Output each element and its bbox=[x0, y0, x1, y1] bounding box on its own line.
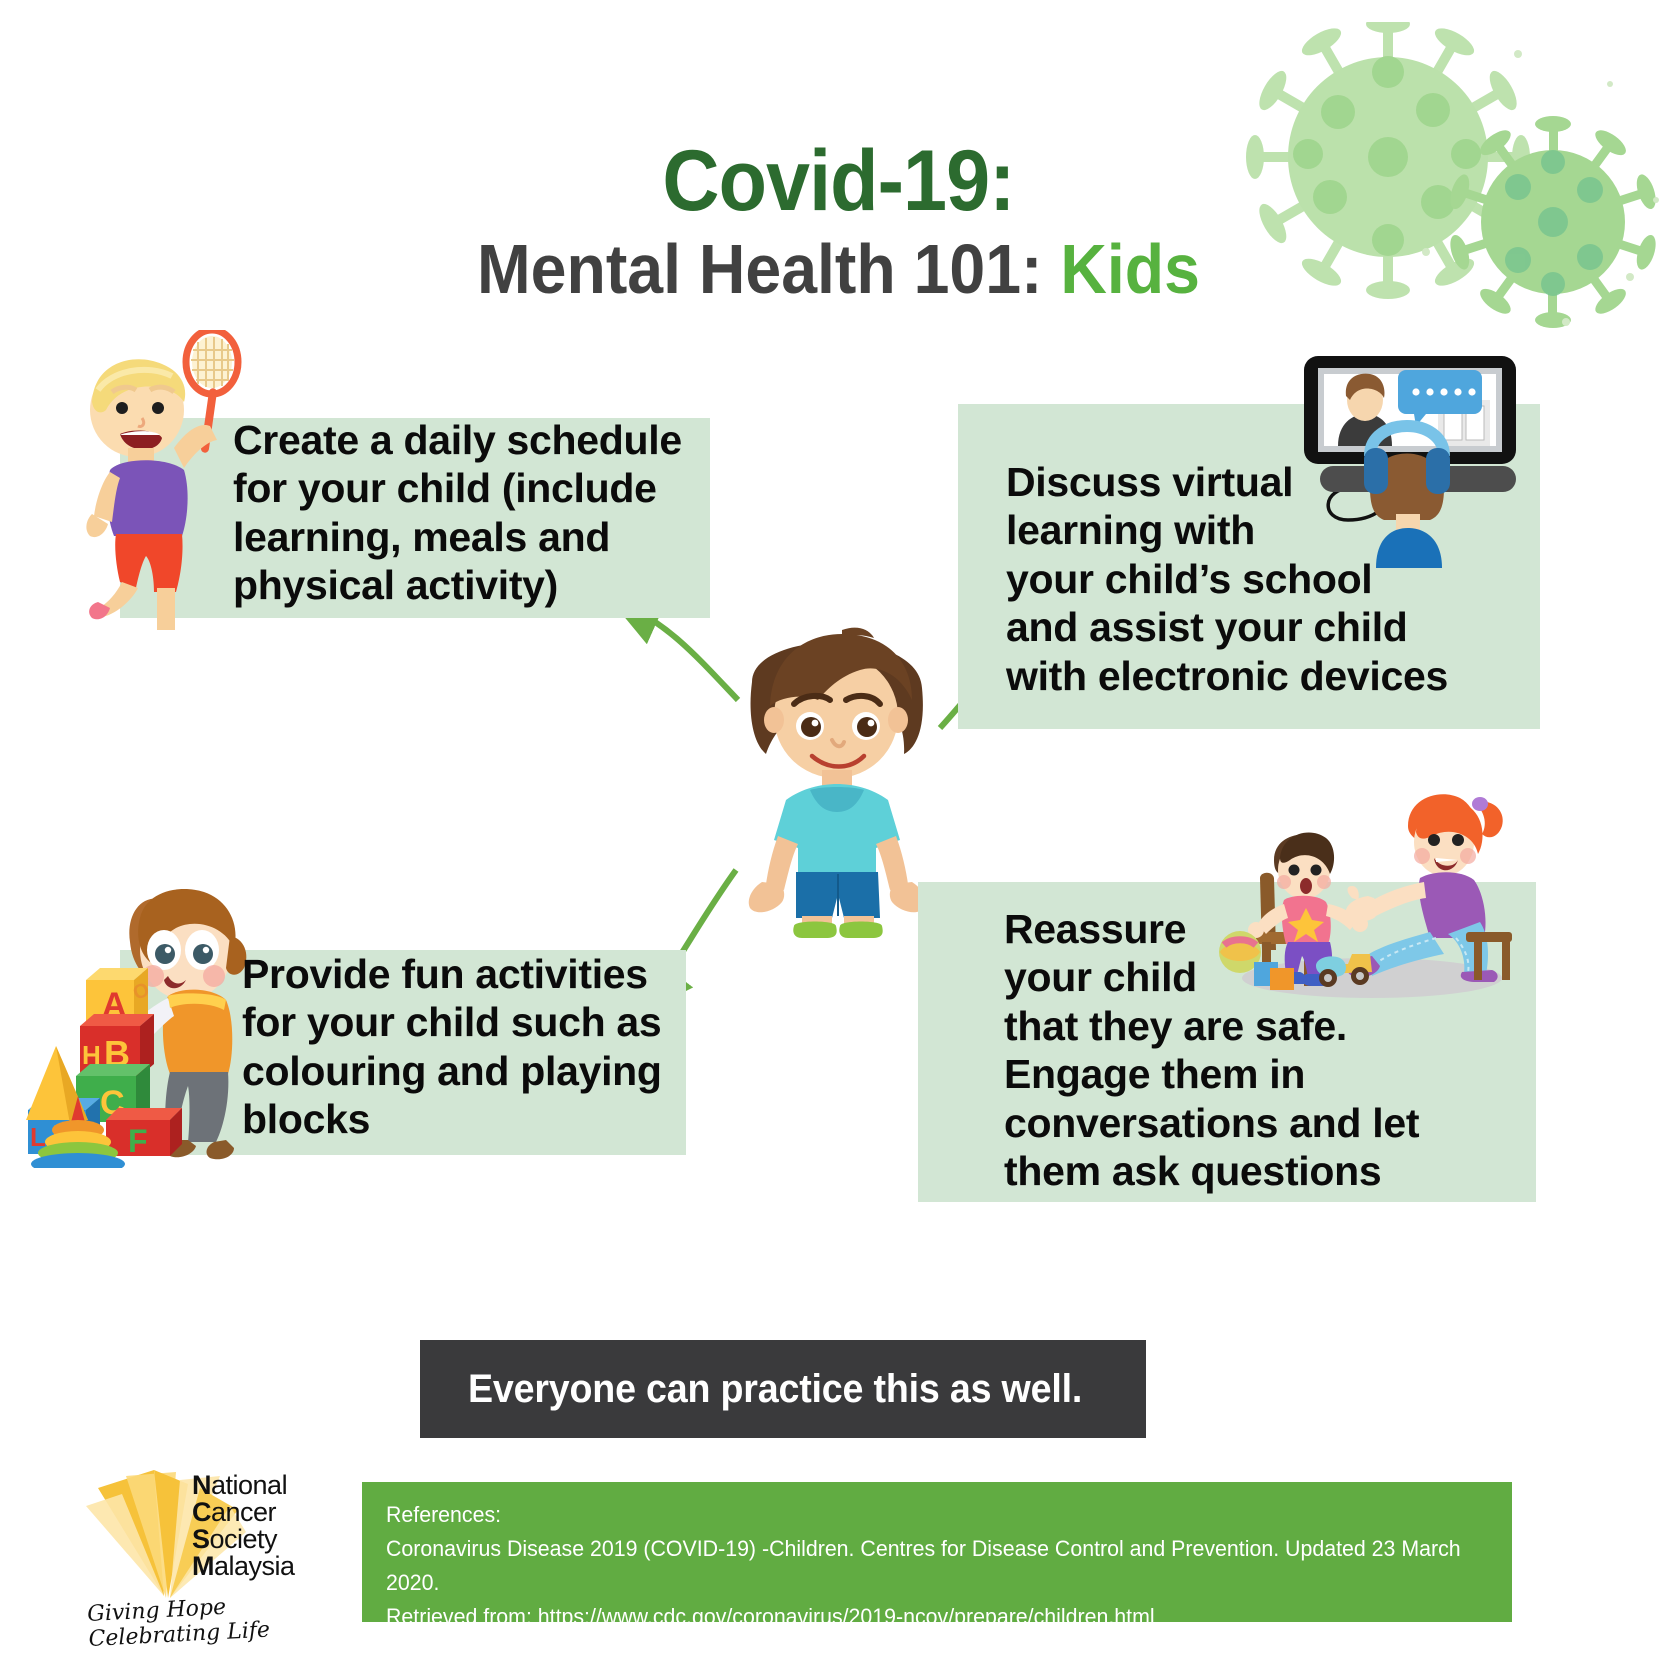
title-subtitle-kids: Kids bbox=[1060, 230, 1200, 308]
logo-line-society: Society bbox=[192, 1526, 295, 1553]
logo-line-cancer: Cancer bbox=[192, 1499, 295, 1526]
parent-talking-with-child-icon bbox=[1212, 782, 1512, 1002]
logo-initial-m: M bbox=[192, 1551, 214, 1581]
logo-initial-c: C bbox=[192, 1497, 211, 1527]
logo-rest-ociety: ociety bbox=[210, 1524, 278, 1554]
logo-rest-ational: ational bbox=[211, 1470, 287, 1500]
child-virtual-learning-icon bbox=[1292, 338, 1592, 568]
infographic-canvas: Covid-19: Mental Health 101: Kids bbox=[0, 0, 1677, 1677]
title-line-subtitle: Mental Health 101: Kids bbox=[67, 226, 1610, 314]
title-line-covid: Covid-19: bbox=[67, 138, 1610, 226]
ncsm-logo-wordmark: National Cancer Society Malaysia bbox=[192, 1472, 295, 1580]
title-subtitle-dark: Mental Health 101: bbox=[477, 230, 1060, 308]
logo-line-national: National bbox=[192, 1472, 295, 1499]
tip-text-daily-schedule: Create a daily schedule for your child (… bbox=[233, 416, 703, 610]
page-title: Covid-19: Mental Health 101: Kids bbox=[0, 138, 1677, 313]
tip-text-fun-activities: Provide fun activities for your child su… bbox=[242, 950, 692, 1144]
svg-text:F: F bbox=[128, 1123, 148, 1159]
logo-initial-s: S bbox=[192, 1524, 210, 1554]
logo-line-malaysia: Malaysia bbox=[192, 1553, 295, 1580]
logo-rest-ancer: ancer bbox=[211, 1497, 276, 1527]
callout-banner-text: Everyone can practice this as well. bbox=[468, 1367, 1082, 1412]
logo-initial-n: N bbox=[192, 1470, 211, 1500]
callout-banner: Everyone can practice this as well. bbox=[420, 1340, 1146, 1438]
logo-rest-alaysia: alaysia bbox=[214, 1551, 295, 1581]
references-text: References: Coronavirus Disease 2019 (CO… bbox=[386, 1498, 1472, 1634]
